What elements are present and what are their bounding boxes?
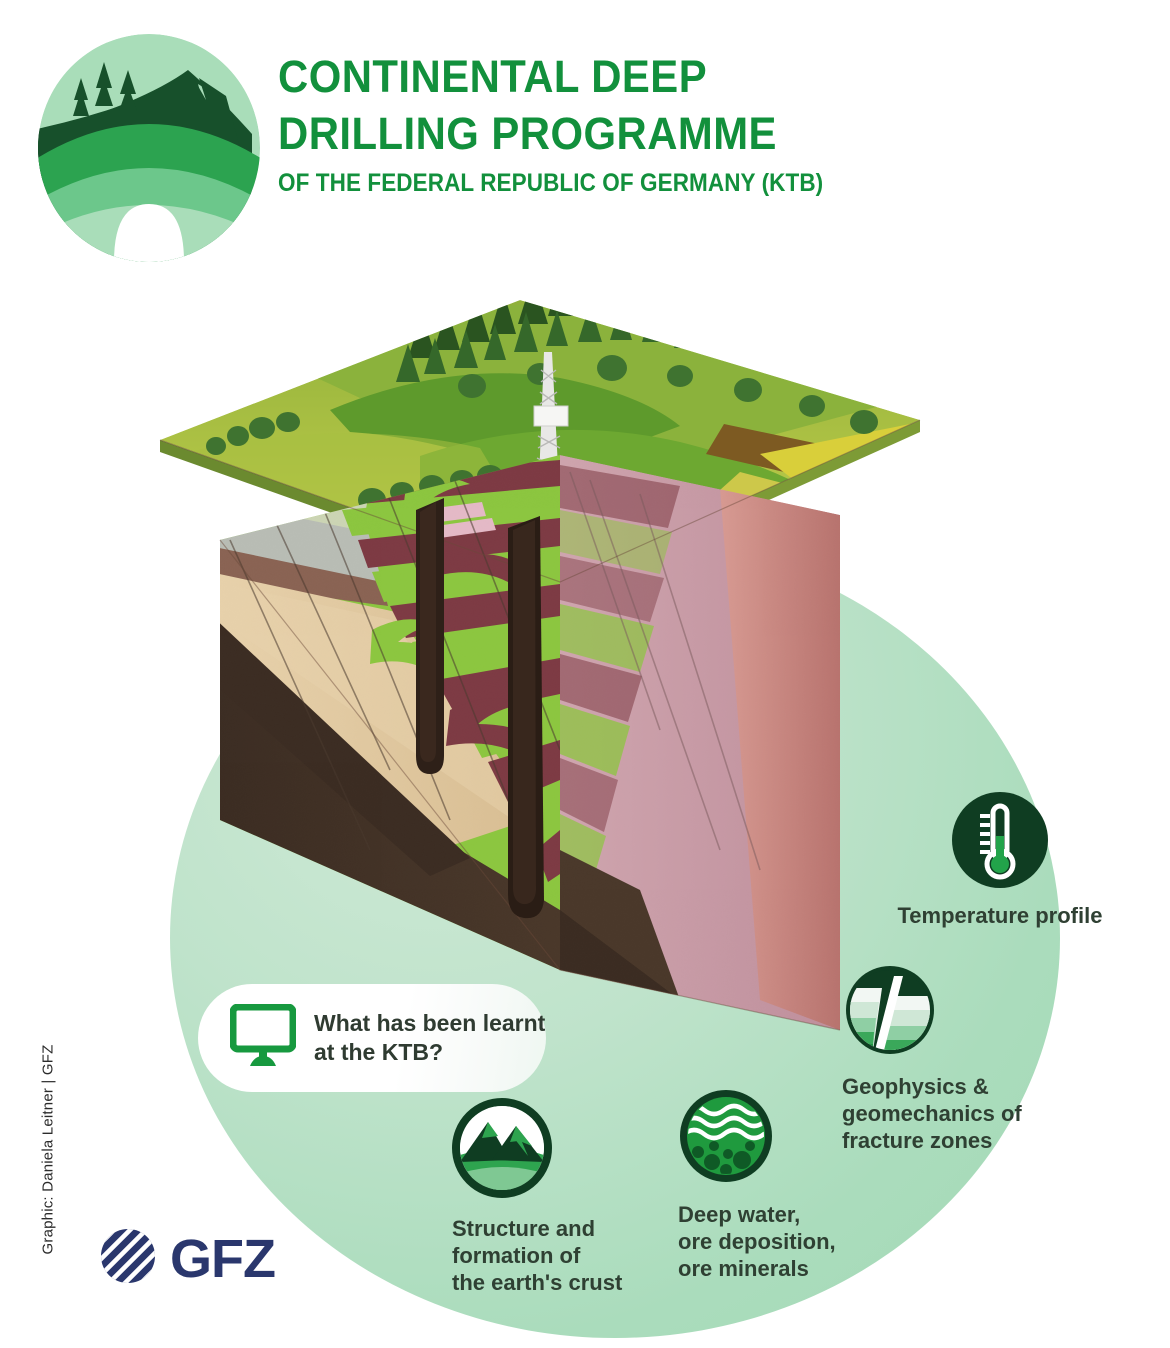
mountains-icon <box>452 1098 682 1203</box>
pilot-borehole <box>416 498 444 774</box>
infographic-canvas: CONTINENTAL DEEP DRILLING PROGRAMME OF T… <box>0 0 1170 1348</box>
gfz-striped-circle-icon <box>100 1228 156 1289</box>
callout-label: What has been learnt at the KTB? <box>314 1009 546 1067</box>
callout-what-learnt[interactable]: What has been learnt at the KTB? <box>198 984 546 1092</box>
item-structure-label: Structure and formation of the earth's c… <box>452 1215 682 1296</box>
item-temperature-label: Temperature profile <box>880 902 1120 929</box>
page-title-line1: CONTINENTAL DEEP <box>278 48 1022 105</box>
water-ore-icon <box>678 1088 898 1189</box>
ktb-logo <box>38 34 260 262</box>
graphic-credit: Graphic: Daniela Leitner | GFZ <box>40 1035 57 1255</box>
fracture-zone-icon <box>842 962 1052 1063</box>
item-structure[interactable]: Structure and formation of the earth's c… <box>452 1098 682 1296</box>
thermometer-icon <box>880 790 1120 890</box>
header: CONTINENTAL DEEP DRILLING PROGRAMME OF T… <box>0 0 1170 230</box>
main-borehole <box>508 516 544 918</box>
gfz-wordmark: GFZ <box>170 1232 275 1286</box>
title-block: CONTINENTAL DEEP DRILLING PROGRAMME OF T… <box>278 48 1078 200</box>
item-temperature[interactable]: Temperature profile <box>880 790 1120 929</box>
cross-section-side <box>560 455 840 1030</box>
page-subtitle: OF THE FEDERAL REPUBLIC OF GERMANY (KTB) <box>278 166 998 200</box>
item-deep-water-label: Deep water, ore deposition, ore minerals <box>678 1201 898 1282</box>
item-deep-water[interactable]: Deep water, ore deposition, ore minerals <box>678 1088 898 1282</box>
monitor-icon <box>230 1004 296 1073</box>
page-title-line2: DRILLING PROGRAMME <box>278 105 1022 162</box>
ktb-3d-block-diagram <box>120 210 980 1040</box>
gfz-logo[interactable]: GFZ <box>100 1228 275 1289</box>
